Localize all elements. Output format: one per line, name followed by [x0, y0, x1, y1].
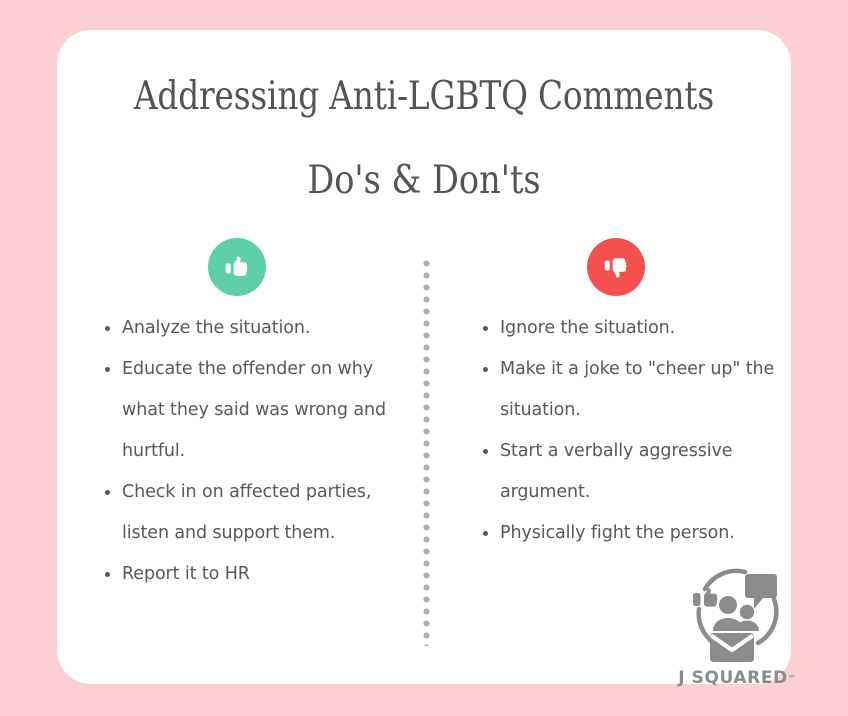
donts-list: Ignore the situation. Make it a joke to …	[480, 308, 780, 554]
list-item: Report it to HR	[102, 554, 412, 595]
speech-bubble-icon	[745, 574, 777, 609]
list-item: Start a verbally aggressive argument.	[480, 431, 780, 513]
brand-wordmark-text: J SQUARED	[678, 668, 788, 688]
column-divider	[423, 260, 430, 646]
poster-canvas: Addressing Anti-LGBTQ Comments Do's & Do…	[0, 0, 848, 716]
list-item: Ignore the situation.	[480, 308, 780, 349]
thumbs-down-icon	[601, 252, 631, 282]
envelope-icon	[710, 633, 754, 662]
list-item: Analyze the situation.	[102, 308, 412, 349]
people-icon	[713, 596, 759, 631]
list-item: Make it a joke to "cheer up" the situati…	[480, 349, 780, 431]
page-title: Addressing Anti-LGBTQ Comments	[116, 74, 733, 119]
list-item: Educate the offender on why what they sa…	[102, 349, 412, 472]
content-card: Addressing Anti-LGBTQ Comments Do's & Do…	[57, 30, 791, 684]
thumbs-up-badge	[208, 238, 266, 296]
brand-wordmark: J SQUARED™	[657, 668, 817, 688]
list-item: Check in on affected parties, listen and…	[102, 472, 412, 554]
dos-list: Analyze the situation. Educate the offen…	[102, 308, 412, 595]
brand-logo	[675, 555, 791, 671]
thumbs-up-icon	[222, 252, 252, 282]
dos-column: Analyze the situation. Educate the offen…	[102, 308, 412, 595]
trademark-icon: ™	[788, 674, 796, 683]
list-item: Physically fight the person.	[480, 513, 780, 554]
page-subtitle: Do's & Don'ts	[108, 158, 739, 203]
thumbs-down-badge	[587, 238, 645, 296]
donts-column: Ignore the situation. Make it a joke to …	[480, 308, 780, 554]
